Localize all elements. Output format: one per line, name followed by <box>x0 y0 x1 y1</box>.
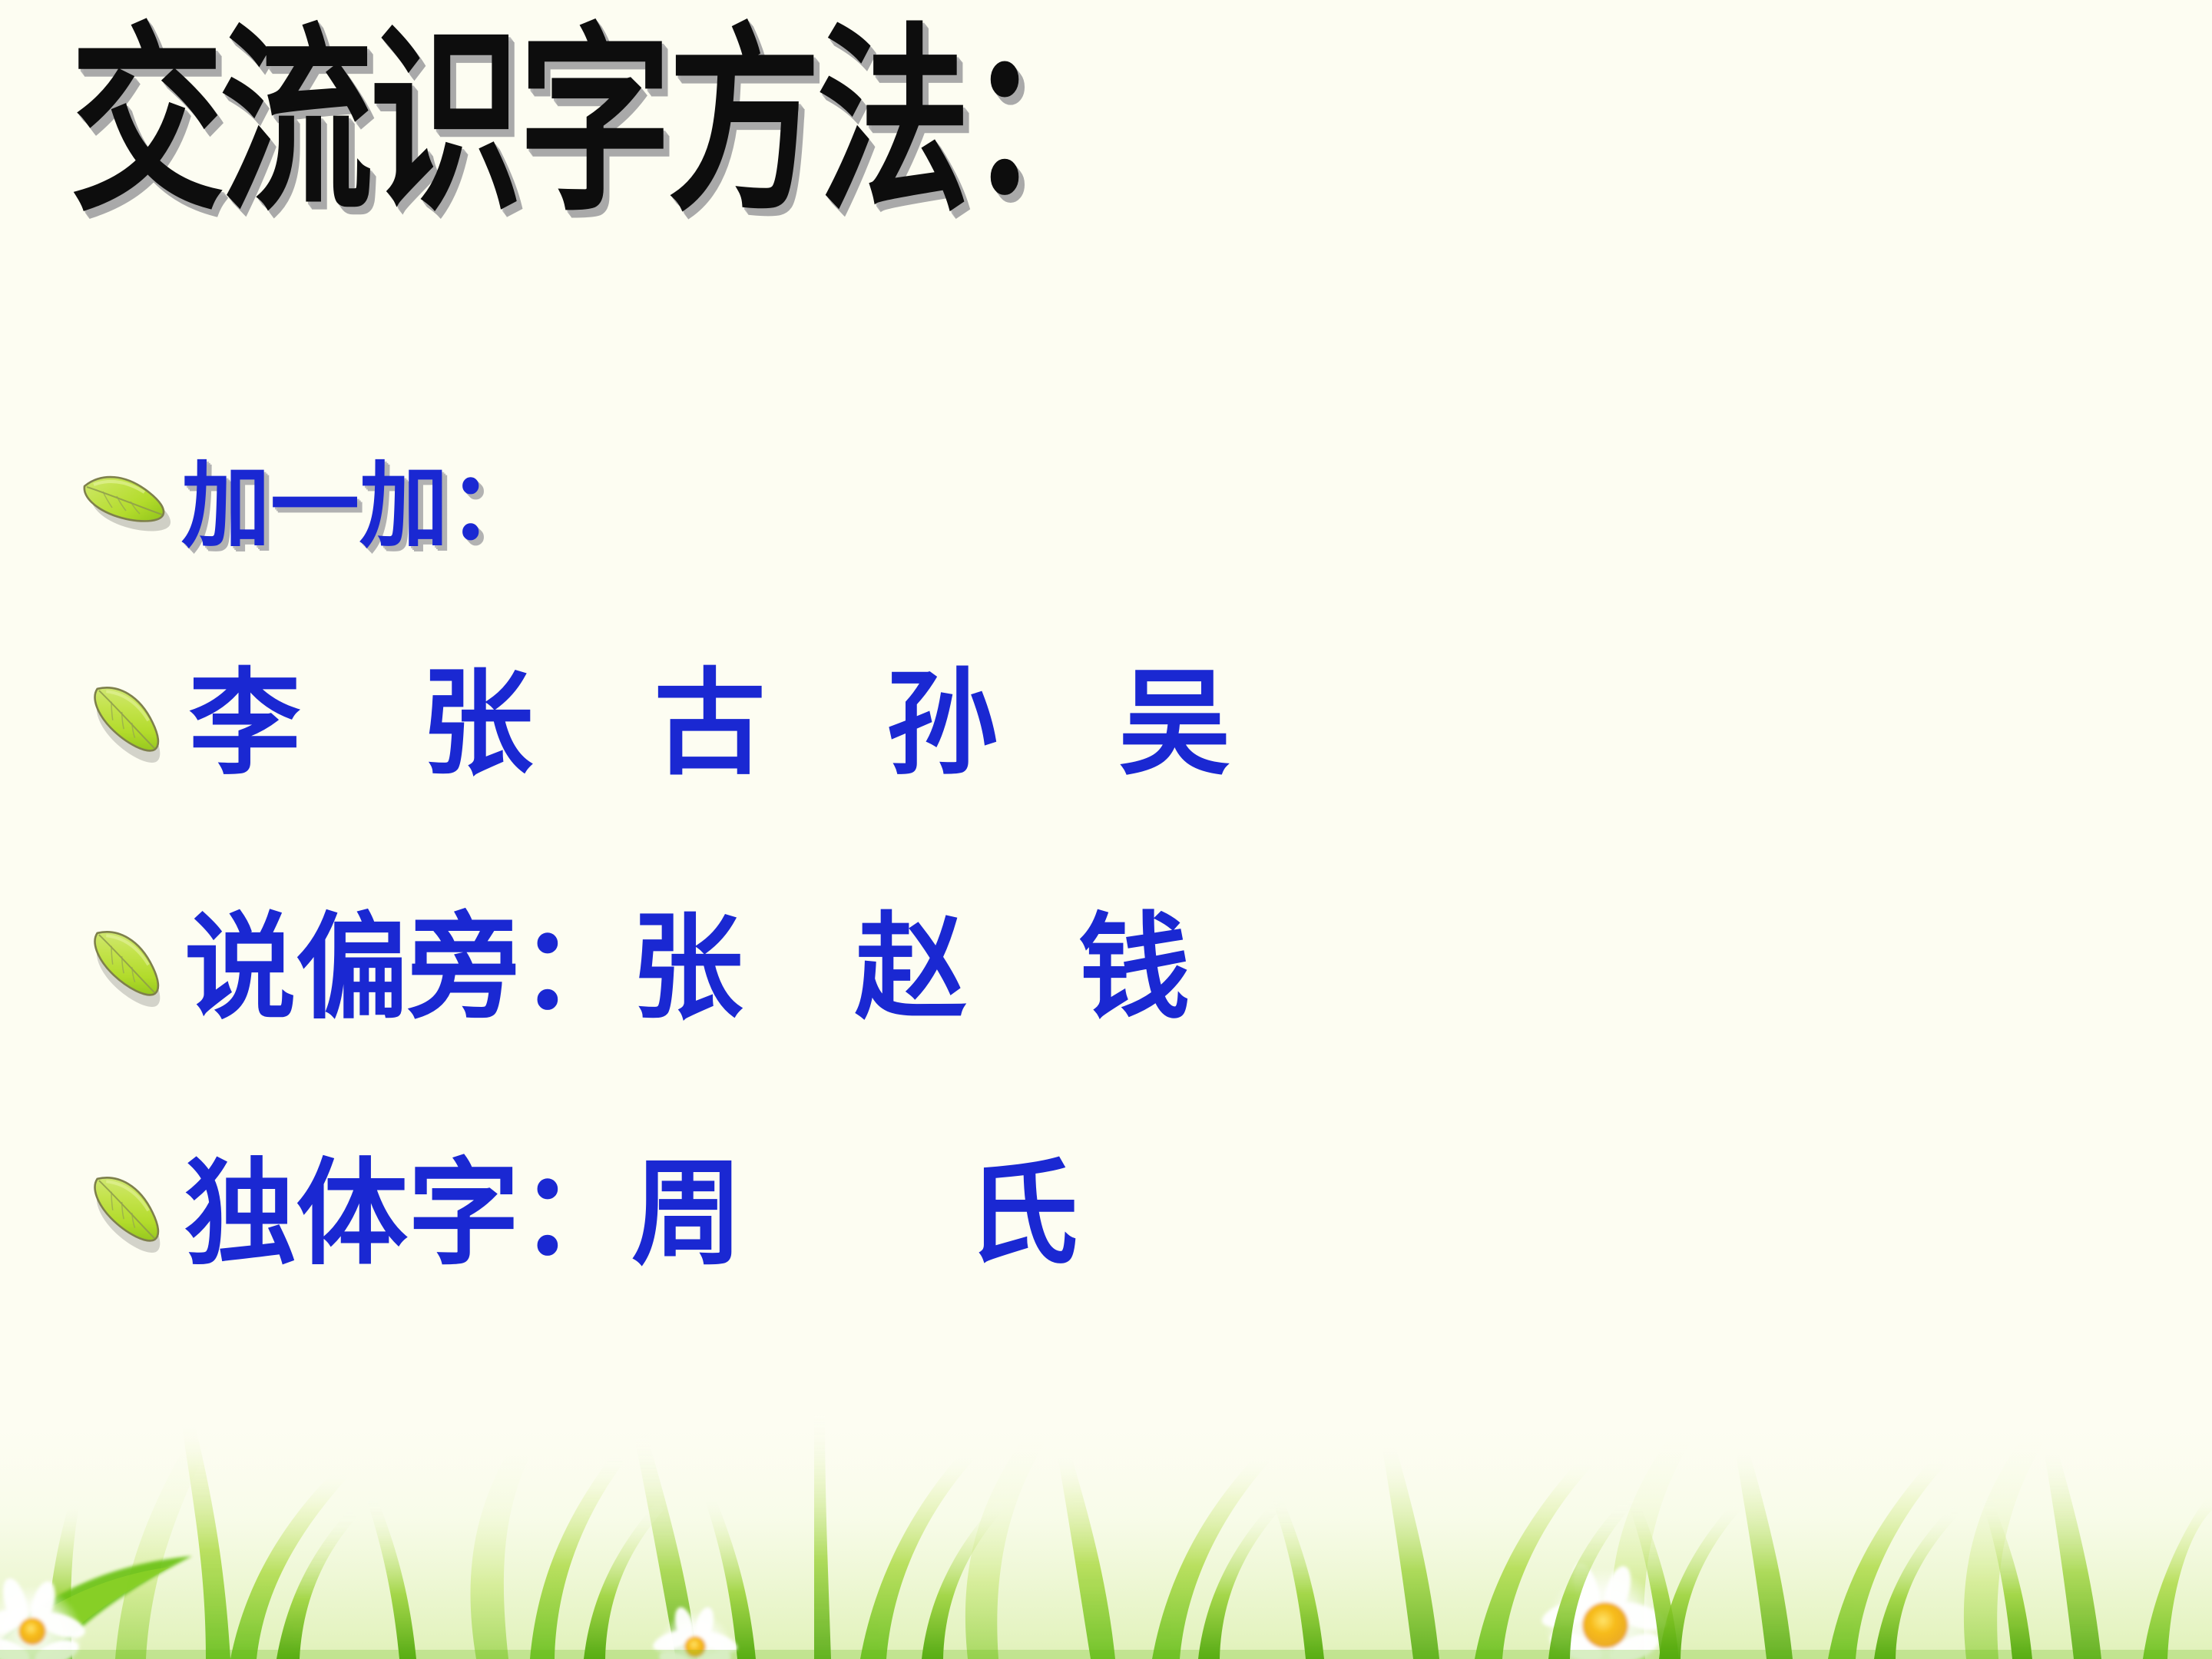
leaf-icon <box>77 460 172 552</box>
leaf-icon <box>77 922 172 1015</box>
slide-canvas: 交流识字方法： <box>0 0 2212 1659</box>
bullet-row: 独体字：周 氏 <box>77 1157 1106 1272</box>
bullet-row: 说偏旁：张 赵 钱 <box>77 911 1221 1026</box>
leaf-icon <box>77 678 172 770</box>
leaf-icon <box>77 1168 172 1260</box>
bullet-row-text: 加一加： <box>181 459 538 553</box>
bullet-row: 李 张 古 孙 吴 <box>77 667 1267 782</box>
bullet-row-text: 说偏旁：张 赵 钱 <box>184 911 1190 1026</box>
grass-decoration <box>0 1406 2212 1659</box>
bullet-row-text: 李 张 古 孙 吴 <box>189 667 1235 782</box>
page-title-text: 交流识字方法： <box>71 6 929 238</box>
page-title: 交流识字方法： <box>71 6 1069 237</box>
bullet-row: 加一加： <box>77 459 556 553</box>
bullet-row-text: 独体字：周 氏 <box>184 1157 1078 1272</box>
